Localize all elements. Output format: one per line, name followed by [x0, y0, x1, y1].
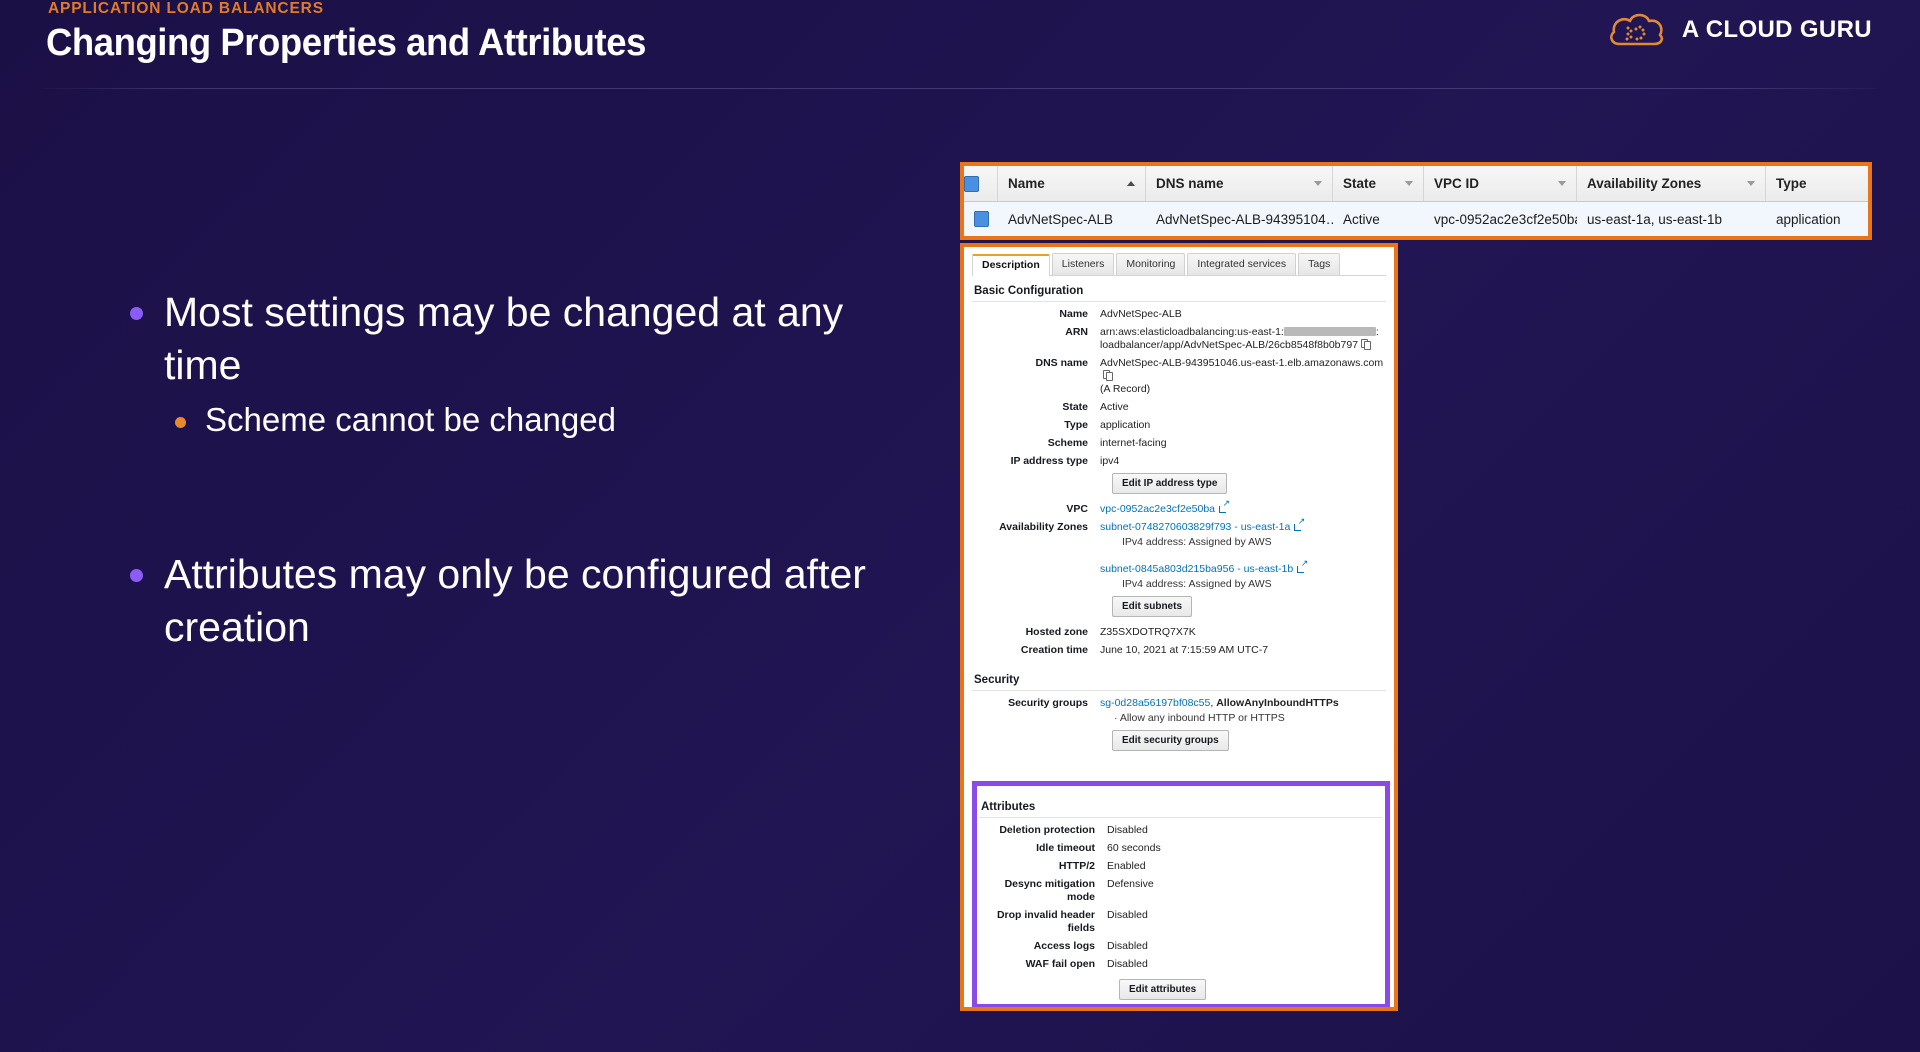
bullet-text: Most settings may be changed at any time	[164, 286, 920, 393]
spacer	[972, 473, 1112, 494]
column-header-label: State	[1343, 176, 1376, 191]
bullet-group-2: Attributes may only be configured after …	[130, 548, 920, 661]
bullet-text: Attributes may only be configured after …	[164, 548, 920, 655]
bullet-dot-icon	[130, 307, 143, 320]
column-header-label: DNS name	[1156, 176, 1224, 191]
page-title: Changing Properties and Attributes	[46, 22, 646, 65]
detail-value: AdvNetSpec-ALB-943951046.us-east-1.elb.a…	[1100, 357, 1386, 396]
detail-value: subnet-0748270603829f793 - us-east-1a IP…	[1100, 521, 1386, 591]
checkbox-icon[interactable]	[964, 176, 979, 192]
sort-ascending-icon[interactable]	[1127, 181, 1135, 186]
attributes-callout: Attributes Deletion protection Disabled …	[972, 781, 1390, 1007]
detail-key: DNS name	[972, 357, 1100, 396]
detail-value: AdvNetSpec-ALB	[1100, 308, 1386, 321]
section-heading-attributes: Attributes	[979, 792, 1383, 818]
column-header-label: Availability Zones	[1587, 176, 1701, 191]
attribute-key: Drop invalid header fields	[979, 909, 1107, 935]
column-header-dns-name[interactable]: DNS name	[1146, 166, 1333, 201]
detail-key: ARN	[972, 326, 1100, 352]
detail-value: Z35SXDOTRQ7X7K	[1100, 626, 1386, 639]
attribute-value: 60 seconds	[1107, 842, 1383, 855]
detail-row-name: Name AdvNetSpec-ALB	[972, 308, 1386, 321]
attribute-key: Idle timeout	[979, 842, 1107, 855]
tab-monitoring[interactable]: Monitoring	[1116, 253, 1185, 275]
attribute-value: Disabled	[1107, 824, 1383, 837]
column-header-type[interactable]: Type	[1766, 166, 1868, 201]
column-header-label: VPC ID	[1434, 176, 1479, 191]
spacer	[972, 730, 1112, 751]
table-row[interactable]: AdvNetSpec-ALB AdvNetSpec-ALB-94395104… …	[964, 202, 1868, 236]
detail-row-hosted-zone: Hosted zone Z35SXDOTRQ7X7K	[972, 626, 1386, 639]
spacer	[1100, 549, 1386, 563]
dns-record-type: (A Record)	[1100, 383, 1150, 395]
column-header-name[interactable]: Name	[998, 166, 1146, 201]
column-header-vpc-id[interactable]: VPC ID	[1424, 166, 1577, 201]
attribute-key: Deletion protection	[979, 824, 1107, 837]
bullet-item: Attributes may only be configured after …	[130, 548, 920, 655]
column-header-label: Name	[1008, 176, 1045, 191]
cell-name: AdvNetSpec-ALB	[998, 212, 1146, 227]
bullet-item: Most settings may be changed at any time	[130, 286, 920, 393]
eyebrow-label: APPLICATION LOAD BALANCERS	[48, 0, 324, 18]
detail-row-security-groups: Security groups sg-0d28a56197bf08c55, Al…	[972, 697, 1386, 725]
attribute-key: Access logs	[979, 940, 1107, 953]
spacer	[979, 979, 1119, 1000]
chevron-down-icon[interactable]	[1405, 181, 1413, 186]
attribute-row-idle-timeout: Idle timeout 60 seconds	[979, 842, 1383, 855]
brand-name: A CLOUD GURU	[1682, 16, 1872, 44]
detail-row-ip-address-type: IP address type ipv4	[972, 455, 1386, 468]
bullet-subitem: Scheme cannot be changed	[175, 399, 920, 442]
attribute-key: Desync mitigation mode	[979, 878, 1107, 904]
arn-suffix: :	[1376, 326, 1379, 338]
attribute-row-drop-invalid-header-fields: Drop invalid header fields Disabled	[979, 909, 1383, 935]
attribute-row-waf-fail-open: WAF fail open Disabled	[979, 958, 1383, 971]
edit-subnets-button[interactable]: Edit subnets	[1112, 596, 1192, 617]
attribute-value: Enabled	[1107, 860, 1383, 873]
select-all-cell[interactable]	[964, 166, 998, 201]
detail-value: application	[1100, 419, 1386, 432]
bullet-sub-text: Scheme cannot be changed	[205, 399, 616, 442]
detail-key: State	[972, 401, 1100, 414]
attribute-value: Disabled	[1107, 909, 1383, 935]
copy-icon[interactable]	[1361, 339, 1370, 349]
slide: APPLICATION LOAD BALANCERS Changing Prop…	[0, 0, 1920, 1052]
detail-value: arn:aws:elasticloadbalancing:us-east-1::…	[1100, 326, 1386, 352]
copy-icon[interactable]	[1103, 370, 1112, 380]
column-header-availability-zones[interactable]: Availability Zones	[1577, 166, 1766, 201]
detail-row-arn: ARN arn:aws:elasticloadbalancing:us-east…	[972, 326, 1386, 352]
security-group-name: AllowAnyInboundHTTPs	[1216, 697, 1339, 709]
bullet-dot-icon	[130, 569, 143, 582]
chevron-down-icon[interactable]	[1558, 181, 1566, 186]
external-link-icon[interactable]	[1297, 564, 1306, 573]
attribute-row-desync-mitigation-mode: Desync mitigation mode Defensive	[979, 878, 1383, 904]
edit-attributes-button[interactable]: Edit attributes	[1119, 979, 1206, 1000]
detail-key: Creation time	[972, 644, 1100, 657]
edit-ip-address-type-row: Edit IP address type	[972, 473, 1386, 494]
subnet-link-1[interactable]: subnet-0748270603829f793 - us-east-1a	[1100, 521, 1290, 533]
detail-key: Availability Zones	[972, 521, 1100, 591]
detail-value: vpc-0952ac2e3cf2e50ba	[1100, 503, 1386, 516]
detail-key: Scheme	[972, 437, 1100, 450]
external-link-icon[interactable]	[1219, 504, 1228, 513]
detail-row-availability-zones: Availability Zones subnet-0748270603829f…	[972, 521, 1386, 591]
subnet-note-2: IPv4 address: Assigned by AWS	[1122, 578, 1386, 591]
detail-value: Active	[1100, 401, 1386, 414]
edit-security-groups-row: Edit security groups	[972, 730, 1386, 751]
subnet-note-1: IPv4 address: Assigned by AWS	[1122, 536, 1386, 549]
chevron-down-icon[interactable]	[1314, 181, 1322, 186]
cell-vpc-id: vpc-0952ac2e3cf2e50ba	[1424, 212, 1577, 227]
attribute-value: Disabled	[1107, 958, 1383, 971]
cell-dns-name: AdvNetSpec-ALB-94395104…	[1146, 212, 1333, 227]
load-balancer-table-callout: Name DNS name State VPC ID Availability …	[960, 162, 1872, 240]
detail-row-state: State Active	[972, 401, 1386, 414]
table-header-row: Name DNS name State VPC ID Availability …	[964, 166, 1868, 202]
checkbox-checked-icon[interactable]	[974, 211, 989, 227]
detail-value: sg-0d28a56197bf08c55, AllowAnyInboundHTT…	[1100, 697, 1386, 725]
detail-value: internet-facing	[1100, 437, 1386, 450]
column-header-state[interactable]: State	[1333, 166, 1424, 201]
security-group-note: · Allow any inbound HTTP or HTTPS	[1114, 712, 1386, 725]
attribute-value: Defensive	[1107, 878, 1383, 904]
attribute-key: HTTP/2	[979, 860, 1107, 873]
detail-key: VPC	[972, 503, 1100, 516]
bullet-sub-dot-icon	[175, 417, 186, 428]
attribute-row-deletion-protection: Deletion protection Disabled	[979, 824, 1383, 837]
detail-row-type: Type application	[972, 419, 1386, 432]
load-balancer-detail-callout: Description Listeners Monitoring Integra…	[960, 243, 1398, 1011]
vpc-link[interactable]: vpc-0952ac2e3cf2e50ba	[1100, 503, 1215, 515]
tab-listeners[interactable]: Listeners	[1052, 253, 1115, 275]
load-balancer-detail-panel: Description Listeners Monitoring Integra…	[964, 247, 1394, 1007]
detail-tab-bar: Description Listeners Monitoring Integra…	[972, 253, 1386, 276]
edit-attributes-row: Edit attributes	[979, 979, 1383, 1000]
edit-subnets-row: Edit subnets	[972, 596, 1386, 617]
security-group-link[interactable]: sg-0d28a56197bf08c55	[1100, 697, 1210, 709]
load-balancer-table: Name DNS name State VPC ID Availability …	[964, 166, 1868, 236]
dns-name-value: AdvNetSpec-ALB-943951046.us-east-1.elb.a…	[1100, 357, 1383, 369]
external-link-icon[interactable]	[1294, 522, 1303, 531]
detail-key: Security groups	[972, 697, 1100, 725]
detail-key: Type	[972, 419, 1100, 432]
cell-type: application	[1766, 212, 1868, 227]
detail-row-scheme: Scheme internet-facing	[972, 437, 1386, 450]
bullet-group-1: Most settings may be changed at any time…	[130, 286, 920, 441]
detail-row-creation-time: Creation time June 10, 2021 at 7:15:59 A…	[972, 644, 1386, 657]
section-heading-basic-configuration: Basic Configuration	[972, 276, 1386, 302]
detail-row-dns-name: DNS name AdvNetSpec-ALB-943951046.us-eas…	[972, 357, 1386, 396]
tab-integrated-services[interactable]: Integrated services	[1187, 253, 1296, 275]
spacer	[972, 596, 1112, 617]
brand: A CLOUD GURU	[1606, 8, 1872, 52]
cell-state: Active	[1333, 212, 1424, 227]
attribute-key: WAF fail open	[979, 958, 1107, 971]
redacted-account-id	[1284, 327, 1376, 336]
cloud-guru-logo-icon	[1606, 8, 1668, 52]
attribute-row-access-logs: Access logs Disabled	[979, 940, 1383, 953]
tab-description[interactable]: Description	[972, 254, 1050, 276]
detail-key: IP address type	[972, 455, 1100, 468]
detail-key: Hosted zone	[972, 626, 1100, 639]
header-divider	[44, 88, 1876, 89]
tab-tags[interactable]: Tags	[1298, 253, 1340, 275]
attribute-row-http2: HTTP/2 Enabled	[979, 860, 1383, 873]
detail-value: June 10, 2021 at 7:15:59 AM UTC-7	[1100, 644, 1386, 657]
arn-line-2: loadbalancer/app/AdvNetSpec-ALB/26cb8548…	[1100, 339, 1358, 351]
row-select-cell[interactable]	[964, 211, 998, 227]
column-header-label: Type	[1776, 176, 1807, 191]
detail-value: ipv4	[1100, 455, 1386, 468]
attributes-section: Attributes Deletion protection Disabled …	[977, 786, 1385, 1004]
attribute-value: Disabled	[1107, 940, 1383, 953]
edit-ip-address-type-button[interactable]: Edit IP address type	[1112, 473, 1227, 494]
detail-row-vpc: VPC vpc-0952ac2e3cf2e50ba	[972, 503, 1386, 516]
chevron-down-icon[interactable]	[1747, 181, 1755, 186]
section-heading-security: Security	[972, 665, 1386, 691]
arn-prefix: arn:aws:elasticloadbalancing:us-east-1:	[1100, 326, 1284, 338]
subnet-link-2[interactable]: subnet-0845a803d215ba956 - us-east-1b	[1100, 563, 1293, 575]
detail-key: Name	[972, 308, 1100, 321]
edit-security-groups-button[interactable]: Edit security groups	[1112, 730, 1229, 751]
cell-availability-zones: us-east-1a, us-east-1b	[1577, 212, 1766, 227]
